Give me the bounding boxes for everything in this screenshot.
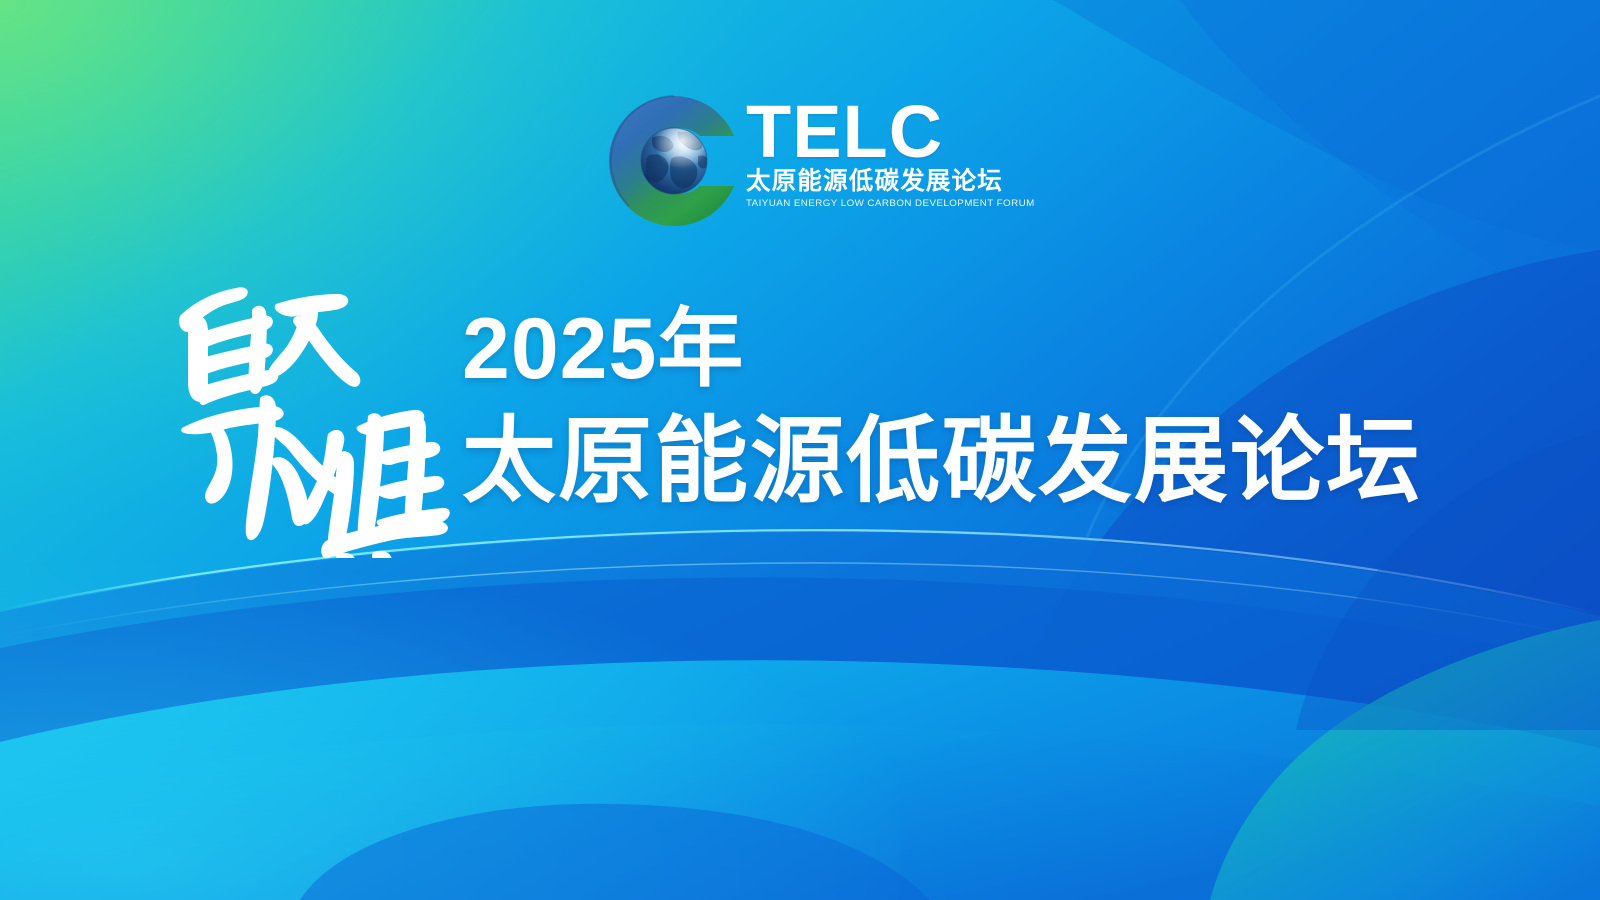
telc-wordmark: TELC 太原能源低碳发展论坛 TAIYUAN ENERGY LOW CARBO…	[746, 92, 1029, 209]
headline-year: 2025年	[462, 306, 1422, 392]
calligraphy-strokes	[179, 287, 450, 558]
juju-calligraphy-focus	[152, 258, 452, 558]
telc-english-name: TAIYUAN ENERGY LOW CARBON DEVELOPMENT FO…	[746, 199, 1035, 210]
headline-block: 2025年 太原能源低碳发展论坛	[462, 306, 1422, 508]
telc-globe-c-logo-icon	[608, 94, 740, 228]
telc-logo-lockup: TELC 太原能源低碳发展论坛 TAIYUAN ENERGY LOW CARBO…	[608, 92, 988, 232]
telc-chinese-name: 太原能源低碳发展论坛	[746, 169, 1003, 195]
poster-canvas: TELC 太原能源低碳发展论坛 TAIYUAN ENERGY LOW CARBO…	[0, 0, 1600, 900]
headline-title: 太原能源低碳发展论坛	[462, 414, 1422, 508]
telc-acronym: TELC	[746, 98, 943, 166]
